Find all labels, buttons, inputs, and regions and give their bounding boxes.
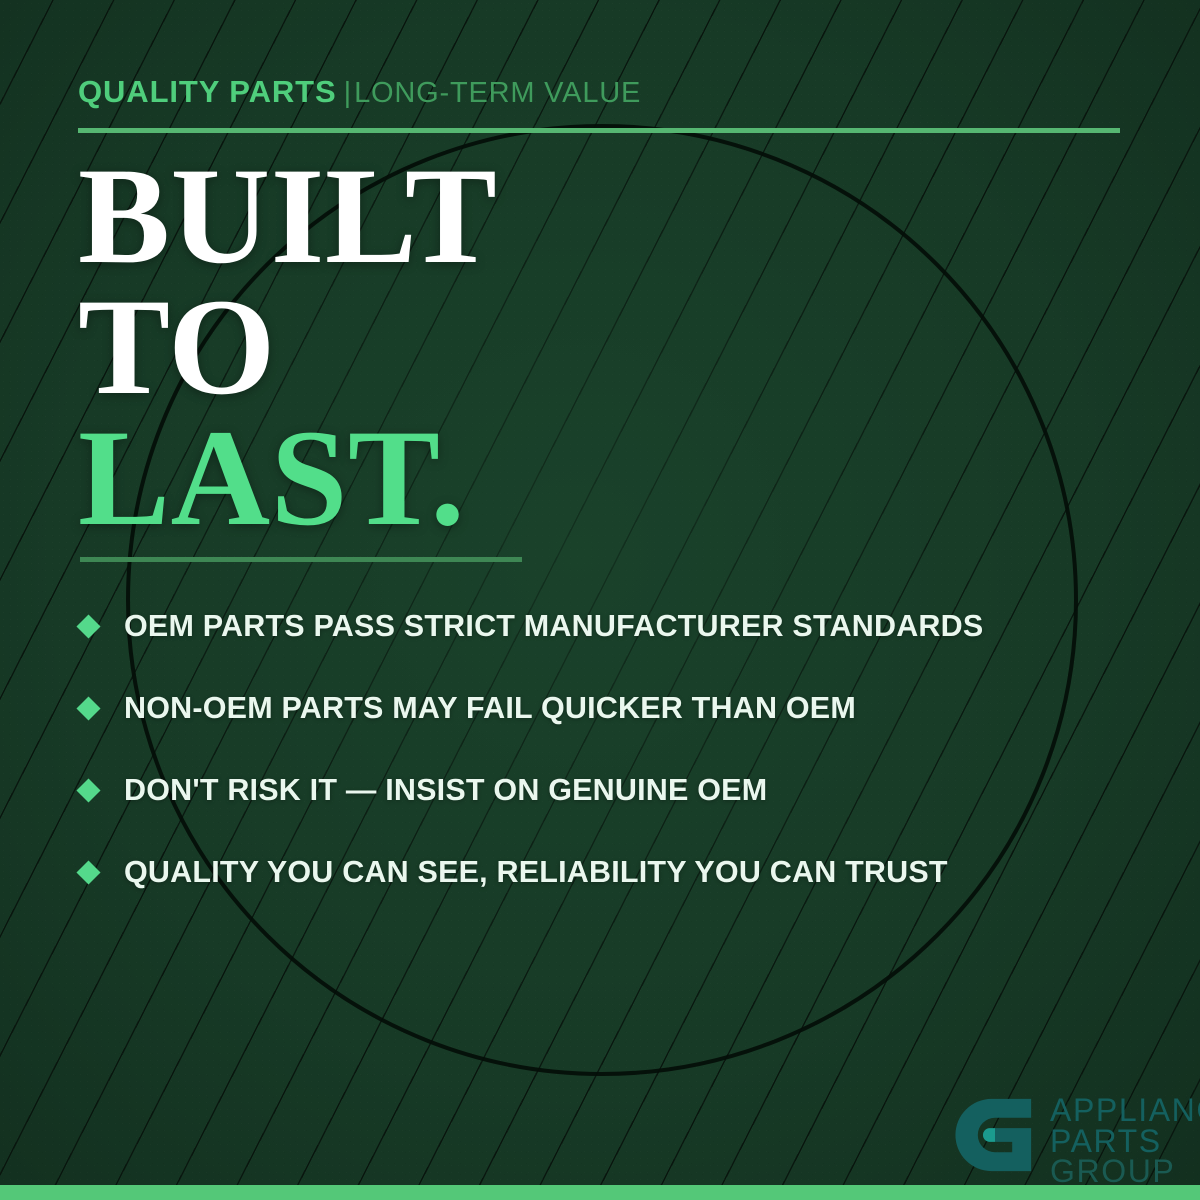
list-item: OEM PARTS PASS STRICT MANUFACTURER STAND… — [80, 585, 1155, 667]
brand-wordmark: APPLIANCE PARTS GROUP — [1050, 1092, 1200, 1187]
list-item-label: QUALITY YOU CAN SEE, RELIABILITY YOU CAN… — [124, 855, 948, 890]
list-item-label: NON-OEM PARTS MAY FAIL QUICKER THAN OEM — [124, 691, 856, 726]
list-item-label: DON'T RISK IT — INSIST ON GENUINE OEM — [124, 773, 767, 808]
brand-logo: APPLIANCE PARTS GROUP — [952, 1092, 1200, 1187]
diamond-bullet-icon — [76, 778, 100, 802]
brand-word-parts: PARTS — [1050, 1126, 1200, 1157]
diamond-bullet-icon — [76, 860, 100, 884]
kicker-separator: | — [337, 77, 355, 109]
headline-underline-rule — [80, 557, 522, 562]
brand-word-group: GROUP — [1050, 1156, 1200, 1187]
list-item-label: OEM PARTS PASS STRICT MANUFACTURER STAND… — [124, 609, 983, 644]
benefits-list: OEM PARTS PASS STRICT MANUFACTURER STAND… — [80, 585, 1155, 913]
g-monogram-icon — [952, 1092, 1038, 1178]
top-divider-rule — [78, 128, 1120, 133]
headline-line-2: TO — [78, 281, 497, 412]
kicker-light-text: LONG-TERM VALUE — [354, 77, 641, 109]
headline-line-3: LAST. — [78, 412, 497, 543]
list-item: QUALITY YOU CAN SEE, RELIABILITY YOU CAN… — [80, 831, 1155, 913]
headline-line-1: BUILT — [78, 150, 497, 281]
diamond-bullet-icon — [76, 696, 100, 720]
diamond-bullet-icon — [76, 614, 100, 638]
page-title: BUILT TO LAST. — [78, 150, 497, 543]
poster-canvas: QUALITY PARTS|LONG-TERM VALUE BUILT TO L… — [0, 0, 1200, 1200]
brand-word-appliance: APPLIANCE — [1050, 1095, 1200, 1126]
kicker-strong-text: QUALITY PARTS — [78, 74, 337, 109]
list-item: DON'T RISK IT — INSIST ON GENUINE OEM — [80, 749, 1155, 831]
list-item: NON-OEM PARTS MAY FAIL QUICKER THAN OEM — [80, 667, 1155, 749]
bottom-accent-bar — [0, 1185, 1200, 1200]
kicker-line: QUALITY PARTS|LONG-TERM VALUE — [78, 76, 1128, 108]
